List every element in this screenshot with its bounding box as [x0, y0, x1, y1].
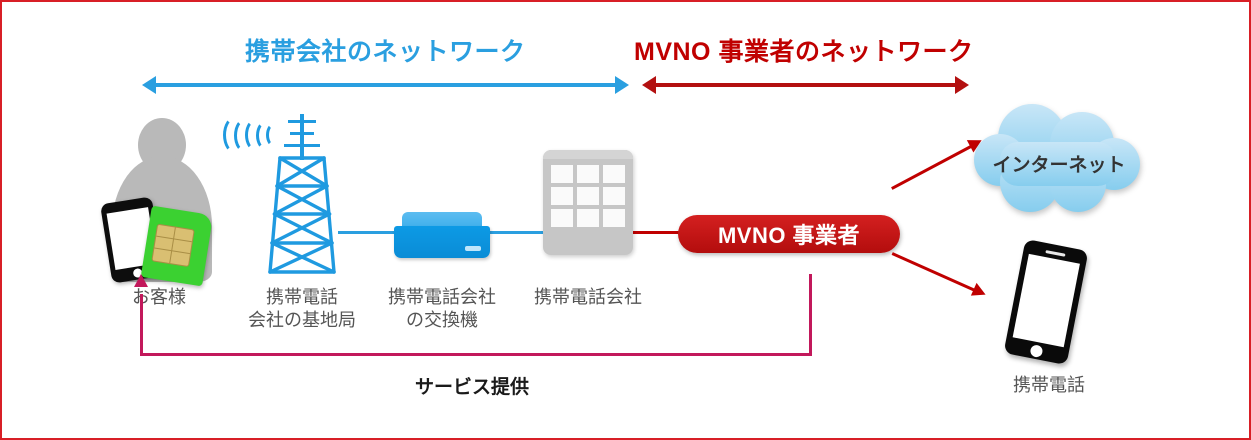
arrow-shaft: [153, 83, 618, 87]
arrow-head-icon: [971, 283, 989, 301]
mvno-operator-label: MVNO 事業者: [718, 218, 860, 250]
mvno-network-band-label: MVNO 事業者のネットワーク: [634, 40, 973, 65]
switch-node: [394, 212, 490, 258]
arrow-shaft: [891, 144, 974, 190]
sim-chip-icon: [151, 224, 194, 267]
customer-node: [98, 114, 226, 282]
building-body-icon: [543, 150, 633, 255]
arrow-mvno-to-mobile: [888, 246, 987, 303]
arrow-head-right-icon: [615, 76, 629, 94]
switch-led-icon: [465, 246, 481, 251]
link-tower-to-switch: [338, 231, 398, 234]
mobile-phone-node: [1002, 244, 1092, 366]
internet-node: インターネット: [970, 98, 1148, 218]
mobile-phone-label: 携帯電話: [994, 374, 1104, 397]
arrow-shaft: [653, 83, 958, 87]
tower-lattice-icon: [250, 156, 354, 274]
mvno-network-span-arrow: [642, 74, 969, 96]
carrier-network-span-arrow: [142, 74, 629, 96]
carrier-network-band-label: 携帯会社のネットワーク: [245, 40, 526, 65]
base-station-node: [250, 114, 354, 274]
signal-waves-icon: [222, 116, 282, 148]
internet-label: インターネット: [970, 150, 1148, 177]
mvno-operator-badge: MVNO 事業者: [678, 215, 900, 253]
service-provision-path: [132, 274, 812, 374]
service-path-arrow-head-icon: [134, 274, 148, 287]
service-provision-label: サービス提供: [382, 372, 562, 399]
phone-screen: [1013, 254, 1080, 347]
link-switch-to-building: [486, 231, 546, 234]
service-path-bottom-segment: [140, 353, 812, 356]
arrow-shaft: [892, 252, 977, 292]
sim-chip-line: [169, 227, 176, 263]
arrow-head-right-icon: [955, 76, 969, 94]
diagram-canvas: 携帯会社のネットワーク MVNO 事業者のネットワーク お客様: [0, 0, 1251, 440]
building-windows: [551, 165, 625, 227]
service-path-left-segment: [140, 294, 143, 356]
phone-home-button-icon: [1029, 344, 1043, 358]
telco-building-node: [543, 150, 633, 255]
phone-speaker-icon: [1045, 250, 1065, 257]
smartphone-icon: [1004, 239, 1089, 365]
switch-front-face: [394, 226, 490, 258]
service-path-right-segment: [809, 274, 812, 356]
building-roof: [543, 150, 633, 159]
